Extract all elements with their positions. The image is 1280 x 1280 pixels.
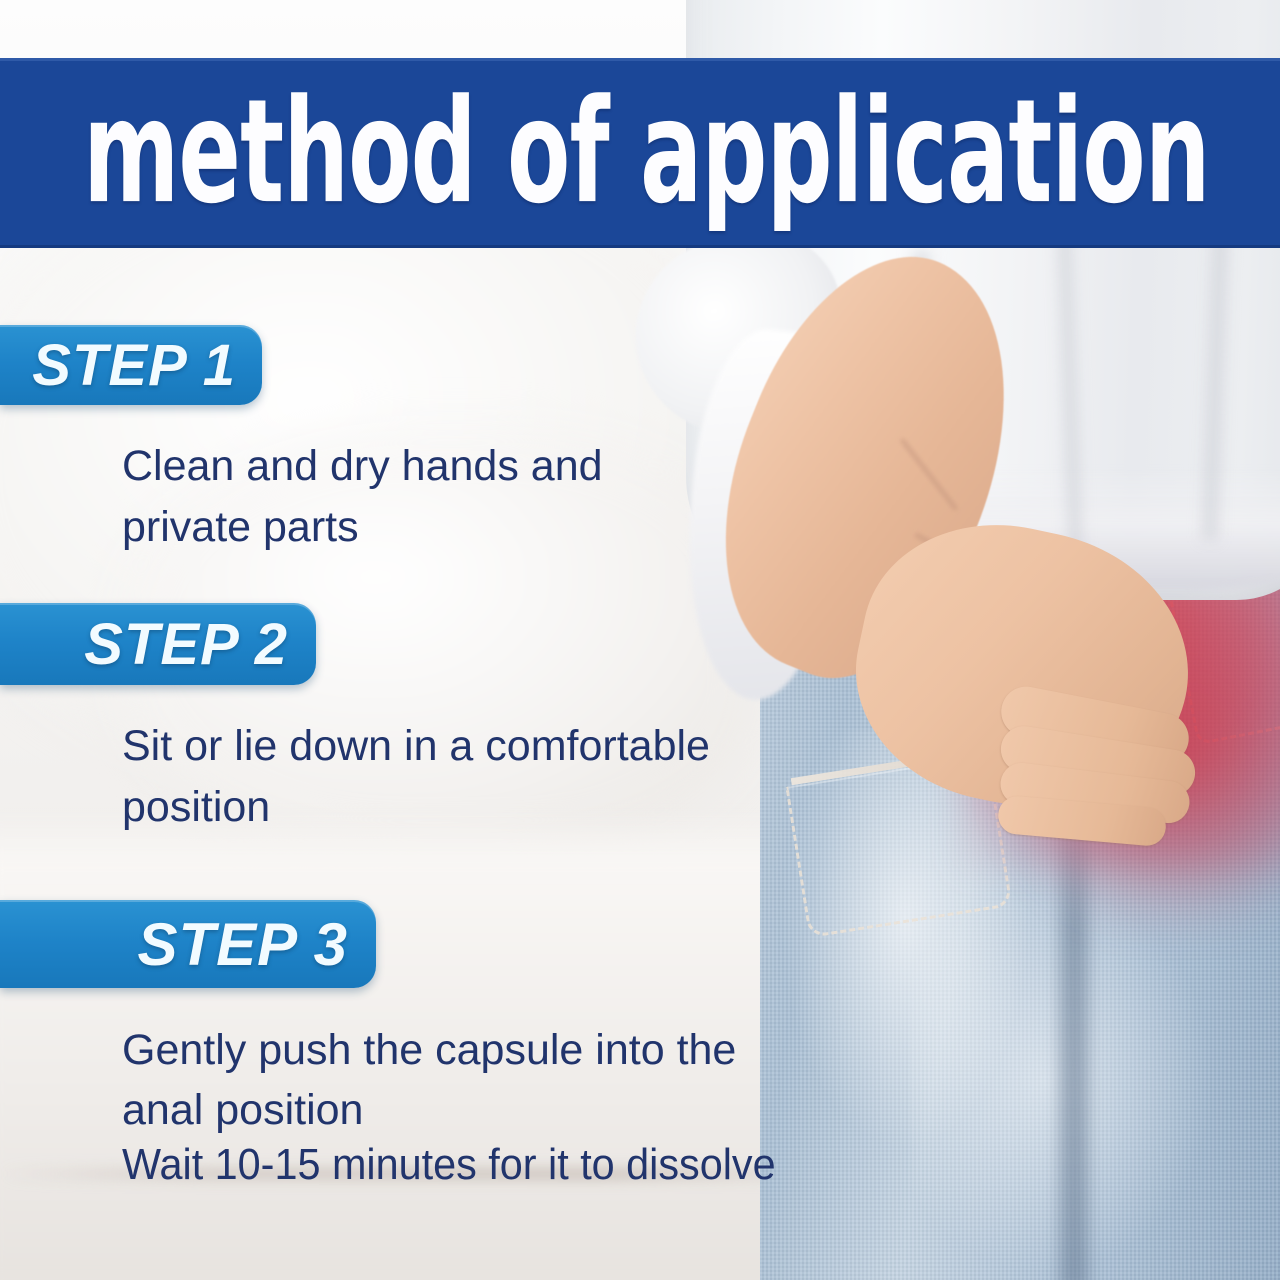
step-2-description: Sit or lie down in a comfortable positio… <box>122 716 822 838</box>
promo-graphic: method of application STEP 1 Clean and d… <box>0 0 1280 1280</box>
step-3-badge[interactable]: STEP 3 <box>0 900 376 988</box>
step-1-badge[interactable]: STEP 1 <box>0 325 262 405</box>
step-2-badge-label: STEP 2 <box>84 611 288 678</box>
header-bar: method of application <box>0 58 1280 248</box>
step-3-badge-label: STEP 3 <box>137 910 348 979</box>
step-2-badge[interactable]: STEP 2 <box>0 603 316 685</box>
step-1-description: Clean and dry hands and private parts <box>122 436 762 558</box>
step-3-description: Gently push the capsule into the anal po… <box>122 1020 862 1140</box>
step-3-wait-note: Wait 10-15 minutes for it to dissolve <box>122 1141 776 1189</box>
page-title: method of application <box>0 81 1210 224</box>
step-1-badge-label: STEP 1 <box>32 332 236 399</box>
